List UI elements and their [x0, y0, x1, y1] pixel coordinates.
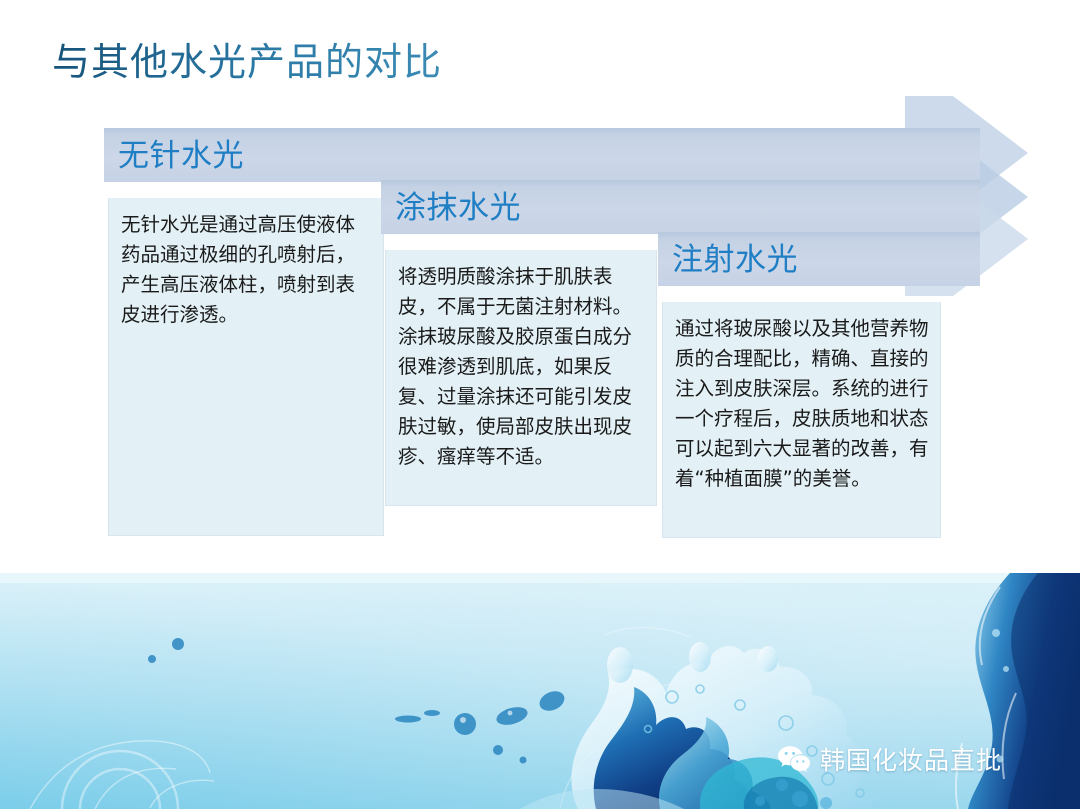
watermark: 韩国化妆品直批: [777, 741, 1002, 777]
panel-3-body: 通过将玻尿酸以及其他营养物质的合理配比，精确、直接的注入到皮肤深层。系统的进行一…: [662, 302, 941, 538]
panel-2-body-text: 将透明质酸涂抹于肌肤表皮，不属于无菌注射材料。涂抹玻尿酸及胶原蛋白成分很难渗透到…: [386, 250, 656, 482]
panel-1-body: 无针水光是通过高压使液体药品通过极细的孔喷射后，产生高压液体柱，喷射到表皮进行渗…: [108, 198, 384, 536]
panel-1-header[interactable]: 无针水光: [104, 128, 980, 182]
panel-2: 涂抹水光: [381, 180, 980, 240]
page-title: 与其他水光产品的对比: [52, 42, 442, 86]
panel-3-header-label: 注射水光: [658, 244, 798, 275]
panel-3-body-text: 通过将玻尿酸以及其他营养物质的合理配比，精确、直接的注入到皮肤深层。系统的进行一…: [663, 302, 940, 504]
panel-2-header-label: 涂抹水光: [381, 192, 521, 223]
watermark-label: 韩国化妆品直批: [820, 741, 1002, 777]
panel-1-body-text: 无针水光是通过高压使液体药品通过极细的孔喷射后，产生高压液体柱，喷射到表皮进行渗…: [109, 198, 383, 340]
panel-1-header-label: 无针水光: [104, 140, 244, 171]
wechat-icon: [777, 745, 811, 773]
panel-2-header[interactable]: 涂抹水光: [381, 180, 980, 234]
panel-2-body: 将透明质酸涂抹于肌肤表皮，不属于无菌注射材料。涂抹玻尿酸及胶原蛋白成分很难渗透到…: [385, 250, 657, 506]
panel-1: 无针水光: [104, 128, 980, 188]
panel-3: 注射水光: [658, 232, 980, 292]
panel-3-header[interactable]: 注射水光: [658, 232, 980, 286]
